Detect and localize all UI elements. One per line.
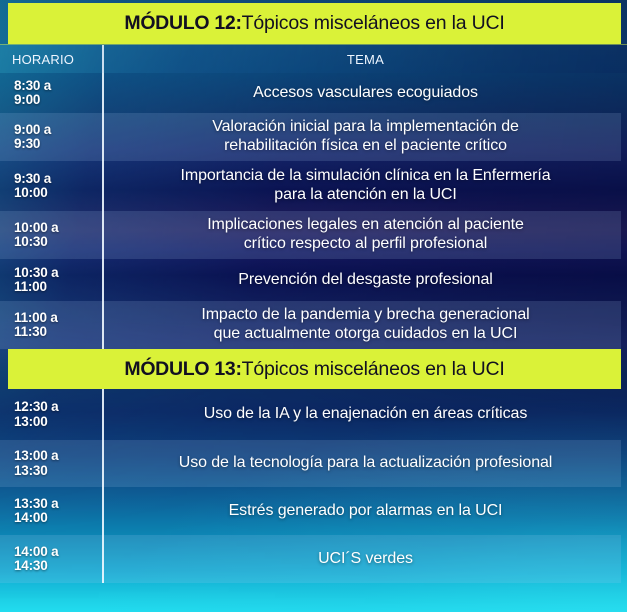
row-time: 9:00 a 9:30 [0,113,102,161]
row-time-end: 13:00 [14,415,102,429]
row-time: 8:30 a 9:00 [0,73,102,113]
row-time: 13:00 a 13:30 [0,440,102,487]
table-row: 10:00 a 10:30 Implicaciones legales en a… [0,211,627,259]
row-topic-line1: Prevención del desgaste profesional [238,271,492,288]
schedule-poster: MÓDULO 12: Tópicos misceláneos en la UCI… [0,0,627,612]
row-time-end: 13:30 [14,464,102,478]
module-13-banner: MÓDULO 13: Tópicos misceláneos en la UCI [8,349,621,389]
row-topic-line2: que actualmente otorga cuidados en la UC… [201,325,529,344]
module-12-label-strong: MÓDULO 12: [124,12,241,35]
row-time-end: 10:30 [14,235,102,249]
row-topic: Importancia de la simulación clínica en … [102,161,627,211]
module-12-label-rest: Tópicos misceláneos en la UCI [242,12,505,35]
row-topic: Uso de la tecnología para la actualizaci… [102,440,627,487]
table-row: 8:30 a 9:00 Accesos vasculares ecoguiado… [0,73,627,113]
table-row: 13:30 a 14:00 Estrés generado por alarma… [0,487,627,535]
row-time-start: 8:30 a [14,79,102,93]
table-row: 9:00 a 9:30 Valoración inicial para la i… [0,113,627,161]
row-time: 13:30 a 14:00 [0,487,102,535]
row-topic: Estrés generado por alarmas en la UCI [102,487,627,535]
table-row: 13:00 a 13:30 Uso de la tecnología para … [0,440,627,487]
row-topic-line1: Valoración inicial para la implementació… [212,118,519,135]
row-topic: Valoración inicial para la implementació… [102,113,627,161]
row-time-end: 11:00 [14,280,102,294]
row-time-end: 9:30 [14,137,102,151]
row-topic-line2: para la atención en la UCI [181,186,551,205]
table-row: 11:00 a 11:30 Impacto de la pandemia y b… [0,301,627,349]
row-time-start: 10:00 a [14,221,102,235]
module-12-banner: MÓDULO 12: Tópicos misceláneos en la UCI [8,3,621,44]
row-time-start: 14:00 a [14,545,102,559]
table-row: 10:30 a 11:00 Prevención del desgaste pr… [0,259,627,301]
table-row: 9:30 a 10:00 Importancia de la simulació… [0,161,627,211]
row-topic: UCI´S verdes [102,535,627,583]
row-topic-line1: Uso de la IA y la enajenación en áreas c… [204,405,528,422]
row-time: 10:30 a 11:00 [0,259,102,301]
row-topic: Uso de la IA y la enajenación en áreas c… [102,389,627,440]
row-time-start: 9:30 a [14,172,102,186]
row-time-end: 14:00 [14,511,102,525]
module-13-label-rest: Tópicos misceláneos en la UCI [242,358,505,381]
row-topic: Accesos vasculares ecoguiados [102,73,627,113]
row-time-end: 14:30 [14,559,102,573]
row-topic-line1: Accesos vasculares ecoguiados [253,84,478,101]
row-topic: Implicaciones legales en atención al pac… [102,211,627,259]
row-time-start: 13:00 a [14,449,102,463]
row-topic-line1: Impacto de la pandemia y brecha generaci… [201,306,529,323]
table-row: 14:00 a 14:30 UCI´S verdes [0,535,627,583]
row-topic-line1: Implicaciones legales en atención al pac… [207,216,524,233]
row-topic-line1: UCI´S verdes [318,550,413,567]
row-time-end: 10:00 [14,186,102,200]
column-header-horario: HORARIO [0,45,102,73]
row-topic-line2: rehabilitación física en el paciente crí… [212,137,519,156]
row-topic: Prevención del desgaste profesional [102,259,627,301]
row-time-start: 11:00 a [14,311,102,325]
row-topic-line2: crítico respecto al perfil profesional [207,235,524,254]
row-time: 12:30 a 13:00 [0,389,102,440]
row-topic-line1: Estrés generado por alarmas en la UCI [229,502,503,519]
row-time: 11:00 a 11:30 [0,301,102,349]
row-time-start: 10:30 a [14,266,102,280]
module-13-label-strong: MÓDULO 13: [124,358,241,381]
row-time: 10:00 a 10:30 [0,211,102,259]
row-topic-line1: Uso de la tecnología para la actualizaci… [179,454,553,471]
row-topic-line1: Importancia de la simulación clínica en … [181,167,551,184]
row-time-start: 13:30 a [14,497,102,511]
row-topic: Impacto de la pandemia y brecha generaci… [102,301,627,349]
row-time: 14:00 a 14:30 [0,535,102,583]
row-time-end: 11:30 [14,325,102,339]
table-row: 12:30 a 13:00 Uso de la IA y la enajenac… [0,389,627,440]
row-time-start: 9:00 a [14,123,102,137]
row-time: 9:30 a 10:00 [0,161,102,211]
column-header-row: HORARIO TEMA [0,44,627,73]
row-time-end: 9:00 [14,93,102,107]
row-time-start: 12:30 a [14,400,102,414]
column-header-tema: TEMA [102,45,627,73]
